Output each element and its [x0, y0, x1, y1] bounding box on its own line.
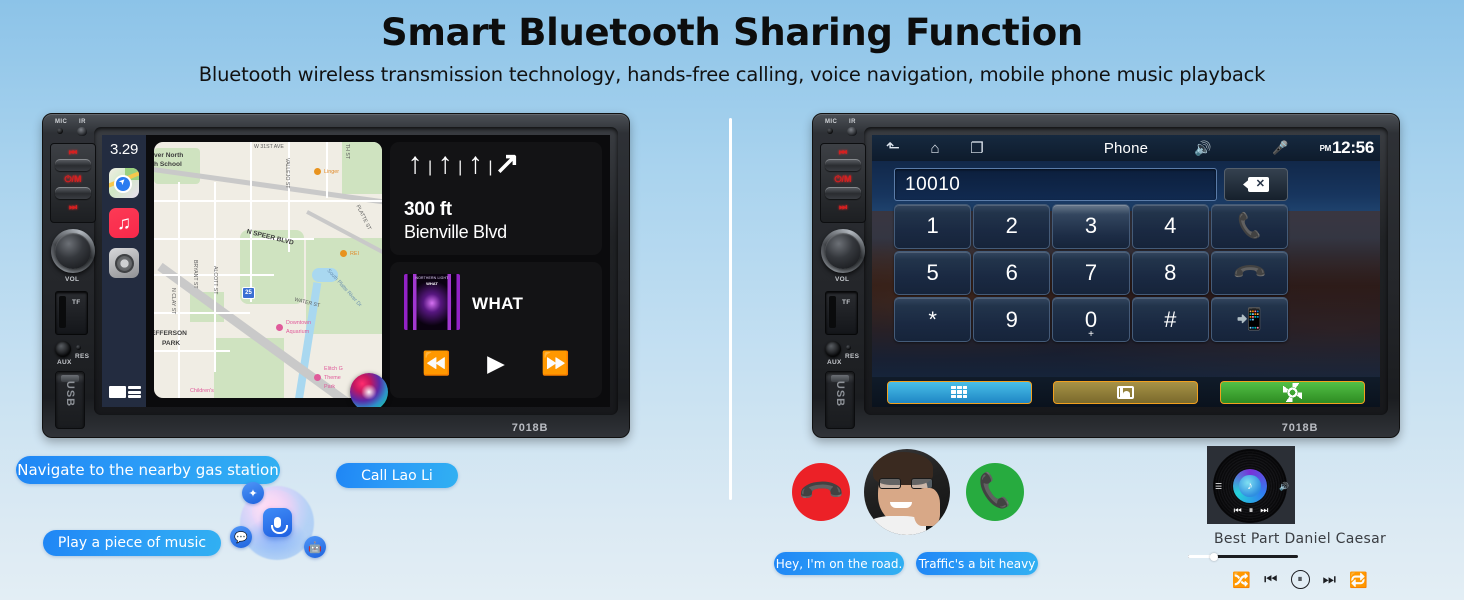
progress-fill — [1188, 555, 1212, 558]
album-art-line2: WHAT — [404, 281, 460, 286]
microphone-icon[interactable]: 🎤 — [1272, 140, 1288, 156]
next-icon[interactable]: ⏭ — [1323, 571, 1337, 588]
reset-hole[interactable] — [846, 345, 851, 350]
clock-time: 12:56 — [1332, 138, 1374, 157]
phone-answer-icon: 📞 — [974, 473, 1017, 510]
gear-icon — [1285, 385, 1300, 400]
mic-label: MIC — [55, 119, 67, 125]
dialpad-key-0[interactable]: 0+ — [1052, 297, 1129, 342]
dialpad-key-9[interactable]: 9 — [973, 297, 1050, 342]
tf-card-slot[interactable] — [55, 291, 88, 335]
left-unit-controls: MIC IR ⏮ ⏻/M ⏭ VOL TF RES AUX USB — [50, 119, 96, 431]
aux-label: AUX — [827, 359, 842, 366]
left-unit-model-label: 7018B — [430, 422, 630, 434]
dialpad-key-2[interactable]: 2 — [973, 204, 1050, 249]
music-widget: ♪ ☰ 🔊 ⏮ ⏸ ⏭ Best Part Daniel Caesar 🔀 ⏮ … — [1140, 443, 1460, 600]
rewind-icon[interactable]: ⏪ — [422, 352, 451, 375]
media-controls: ⏪ ▶ ⏩ — [404, 346, 588, 380]
phone-answer-icon: 📞 — [1233, 211, 1265, 242]
navigation-distance: 300 ft — [404, 199, 452, 221]
volume-up-button[interactable] — [55, 159, 91, 171]
lane-arrow-right-turn: ↗ — [494, 152, 516, 176]
transport-button-stack: ⏮ ⏻/M ⏭ — [820, 143, 866, 223]
fast-forward-icon[interactable]: ⏩ — [541, 352, 570, 375]
next-track-icon[interactable]: ⏭ — [51, 202, 95, 213]
prev-track-icon[interactable]: ⏮ — [821, 147, 865, 158]
lane-guidance: ↑ | ↑ | ↑ | ↗ — [404, 152, 516, 176]
caller-avatar — [864, 449, 950, 535]
pause-icon[interactable]: ⏸ — [1291, 570, 1310, 589]
mic-hole — [827, 128, 833, 134]
usb-slot[interactable]: USB — [825, 371, 855, 429]
repeat-icon[interactable]: 🔁 — [1349, 571, 1368, 589]
album-art-vinyl: ♪ ☰ 🔊 ⏮ ⏸ ⏭ — [1207, 446, 1295, 524]
backspace-icon: ✕ — [1243, 177, 1269, 192]
map-poi-dot — [276, 324, 283, 331]
siri-orb[interactable] — [350, 373, 388, 407]
vinyl-mini-controls: ⏮ ⏸ ⏭ — [1207, 505, 1295, 516]
header: Smart Bluetooth Sharing Function Bluetoo… — [0, 0, 1464, 86]
music-track-title: Best Part Daniel Caesar — [1140, 531, 1460, 547]
highway-shield-25 — [242, 287, 255, 299]
right-unit-model-label: 7018B — [1200, 422, 1400, 434]
dialpad-key-star[interactable]: * — [894, 297, 971, 342]
power-icon[interactable]: ⏻/M — [51, 174, 95, 185]
usb-slot[interactable]: USB — [55, 371, 85, 429]
tab-settings[interactable] — [1220, 381, 1365, 404]
previous-icon[interactable]: ⏮ — [1264, 571, 1278, 588]
dialpad-key-0-plus: + — [1053, 329, 1128, 340]
tf-label: TF — [842, 299, 851, 306]
android-status-bar: ⬑ ⌂ ❐ Phone 🔊 🎤 PM12:56 — [872, 135, 1380, 161]
res-label: RES — [845, 353, 859, 360]
volume-icon[interactable]: 🔊 — [1279, 482, 1289, 491]
dialpad-key-hash[interactable]: # — [1132, 297, 1209, 342]
aux-label: AUX — [57, 359, 72, 366]
mic-label: MIC — [825, 119, 837, 125]
lane-arrow-up: ↑ — [404, 152, 426, 176]
lane-arrow-up: ↑ — [464, 152, 486, 176]
phone-hangup-icon: 📞 — [1231, 254, 1269, 292]
carplay-screen[interactable]: 3.29 ♫ — [102, 135, 610, 407]
call-end-button[interactable]: 📞 — [1211, 251, 1288, 296]
robot-icon: 🤖 — [304, 536, 326, 558]
volume-down-button[interactable] — [55, 187, 91, 199]
volume-knob[interactable] — [55, 233, 91, 269]
dialpad-key-4[interactable]: 4 — [1132, 204, 1209, 249]
page-subtitle: Bluetooth wireless transmission technolo… — [0, 63, 1464, 86]
carplay-dashboard-icon[interactable] — [109, 386, 141, 398]
res-label: RES — [75, 353, 89, 360]
tab-keypad[interactable] — [887, 381, 1032, 404]
dialed-number-field[interactable]: 10010 — [894, 168, 1217, 201]
sparkle-icon: ✦ — [242, 482, 264, 504]
bubble-call[interactable]: Call Lao Li — [336, 463, 458, 488]
vol-label: VOL — [835, 276, 849, 283]
carplay-media-card[interactable]: NORTHERN LIGHT WHAT WHAT ⏪ ▶ ⏩ — [390, 262, 602, 398]
navigation-street: Bienville Blvd — [404, 222, 507, 243]
phone-tab-bar — [872, 377, 1380, 407]
call-answer-button[interactable]: 📞 — [1211, 204, 1288, 249]
map-poi-dot — [340, 250, 347, 257]
keypad-icon — [951, 386, 967, 398]
vinyl-label: ♪ — [1233, 469, 1267, 503]
contacts-icon — [1117, 386, 1134, 399]
album-art-line1: NORTHERN LIGHT — [404, 276, 460, 280]
carplay-navigation-card[interactable]: ↑ | ↑ | ↑ | ↗ 300 ft Bienville Blvd — [390, 142, 602, 255]
aux-jack[interactable] — [825, 341, 841, 357]
screen-title: Phone — [872, 140, 1380, 157]
bubble-on-the-road[interactable]: Hey, I'm on the road. — [774, 552, 904, 575]
usb-label: USB — [834, 380, 846, 408]
accept-call-button[interactable]: 📞 — [966, 463, 1024, 521]
right-unit-controls: MIC IR ⏮ ⏻/M ⏭ VOL TF RES AUX USB — [820, 119, 866, 431]
phone-hangup-icon: 📞 — [797, 468, 844, 516]
right-head-unit: MIC IR ⏮ ⏻/M ⏭ VOL TF RES AUX USB ⬑ — [812, 113, 1400, 438]
next-track-icon[interactable]: ⏭ — [821, 202, 865, 213]
volume-knob[interactable] — [825, 233, 861, 269]
map-poi-dot — [314, 374, 321, 381]
lane-arrow-up: ↑ — [434, 152, 456, 176]
album-art: NORTHERN LIGHT WHAT — [404, 274, 460, 330]
left-head-unit: MIC IR ⏮ ⏻/M ⏭ VOL TF RES AUX USB 3.29 — [42, 113, 630, 438]
transfer-call-button[interactable]: 📲 — [1211, 297, 1288, 342]
carplay-clock: 3.29 — [110, 141, 138, 158]
progress-bar[interactable] — [1188, 555, 1298, 558]
dialpad[interactable]: 1234📞5678📞*90+#📲 — [894, 204, 1288, 342]
tf-slot-opening — [829, 296, 836, 328]
volume-up-button[interactable] — [825, 159, 861, 171]
microphone-icon — [263, 508, 292, 537]
music-app-icon[interactable]: ♫ — [109, 208, 139, 238]
dialpad-key-8[interactable]: 8 — [1132, 251, 1209, 296]
transport-button-stack: ⏮ ⏻/M ⏭ — [50, 143, 96, 223]
dialpad-key-5[interactable]: 5 — [894, 251, 971, 296]
now-playing-title: WHAT — [472, 294, 523, 314]
backspace-button[interactable]: ✕ — [1224, 168, 1288, 201]
dialpad-key-1[interactable]: 1 — [894, 204, 971, 249]
carplay-map[interactable]: W 31ST AVE VALLEJO ST TH ST PLATTE ST N … — [154, 142, 382, 398]
play-icon[interactable]: ▶ — [487, 352, 505, 375]
usb-label: USB — [64, 380, 76, 408]
aux-jack[interactable] — [55, 341, 71, 357]
decline-call-button[interactable]: 📞 — [792, 463, 850, 521]
bubble-music[interactable]: Play a piece of music — [43, 530, 221, 556]
next-icon[interactable]: ⏭ — [1260, 505, 1268, 516]
maps-app-icon[interactable] — [109, 168, 139, 198]
music-note-icon: ♪ — [1239, 475, 1260, 496]
ir-lens — [77, 127, 87, 136]
reset-hole[interactable] — [76, 345, 81, 350]
prev-track-icon[interactable]: ⏮ — [51, 147, 95, 158]
ir-lens — [847, 127, 857, 136]
page-title: Smart Bluetooth Sharing Function — [0, 13, 1464, 54]
section-divider — [729, 118, 732, 500]
playlist-icon[interactable]: ☰ — [1215, 482, 1222, 491]
dialed-number-value: 10010 — [905, 174, 960, 196]
phone-transfer-icon: 📲 — [1236, 308, 1262, 332]
vol-label: VOL — [65, 276, 79, 283]
dialpad-key-7[interactable]: 7 — [1052, 251, 1129, 296]
shuffle-icon[interactable]: 🔀 — [1232, 571, 1251, 589]
status-clock: PM12:56 — [1320, 138, 1374, 158]
pause-icon[interactable]: ⏸ — [1249, 505, 1254, 516]
ir-label: IR — [79, 119, 86, 125]
dialpad-key-3[interactable]: 3 — [1052, 204, 1129, 249]
carplay-sidebar: 3.29 ♫ — [102, 135, 146, 407]
map-poi-dot — [314, 168, 321, 175]
ir-label: IR — [849, 119, 856, 125]
previous-icon[interactable]: ⏮ — [1234, 505, 1242, 516]
music-transport-controls: 🔀 ⏮ ⏸ ⏭ 🔁 — [1140, 570, 1460, 589]
volume-down-button[interactable] — [825, 187, 861, 199]
tf-card-slot[interactable] — [825, 291, 858, 335]
phone-dialer-screen[interactable]: ⬑ ⌂ ❐ Phone 🔊 🎤 PM12:56 10010 ✕ 1234📞567… — [872, 135, 1380, 407]
clock-meridiem: PM — [1320, 144, 1331, 153]
progress-knob[interactable] — [1210, 553, 1218, 561]
tf-label: TF — [72, 299, 81, 306]
settings-app-icon[interactable] — [109, 248, 139, 278]
voice-assistant-orb[interactable]: ✦ 💬 🤖 — [232, 478, 324, 570]
bubble-traffic[interactable]: Traffic's a bit heavy — [916, 552, 1038, 575]
dialpad-key-6[interactable]: 6 — [973, 251, 1050, 296]
tf-slot-opening — [59, 296, 66, 328]
volume-icon[interactable]: 🔊 — [1194, 140, 1211, 157]
tab-contacts[interactable] — [1053, 381, 1198, 404]
power-icon[interactable]: ⏻/M — [821, 174, 865, 185]
mic-hole — [57, 128, 63, 134]
chat-bubble-icon: 💬 — [230, 526, 252, 548]
